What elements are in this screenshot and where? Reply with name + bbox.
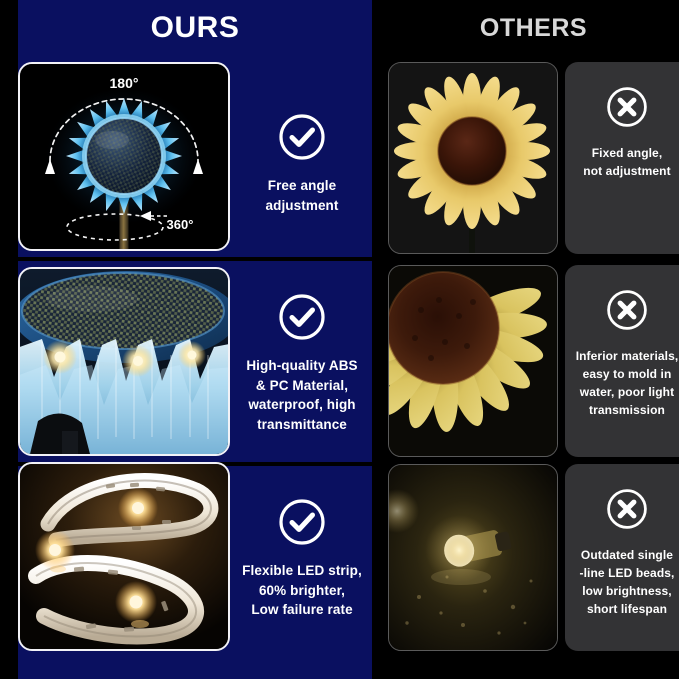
ours-feature-2: High-quality ABS& PC Material,waterproof… (232, 292, 372, 434)
check-circle-icon (277, 497, 327, 547)
others-header: OTHERS (388, 0, 679, 56)
check-circle-icon (277, 292, 327, 342)
ours-feature-3-label: Flexible LED strip,60% brighter,Low fail… (242, 561, 362, 620)
ours-image-card-led-strip (18, 462, 230, 651)
others-image-card-sunflower-closeup (388, 265, 558, 457)
cross-circle-icon (604, 486, 650, 532)
ours-feature-1: Free angleadjustment (232, 112, 372, 215)
cross-circle-icon (604, 84, 650, 130)
ours-feature-3: Flexible LED strip,60% brighter,Low fail… (232, 497, 372, 620)
others-drawback-1-label: Fixed angle,not adjustment (576, 144, 677, 180)
svg-text:360°: 360° (167, 217, 194, 232)
ours-feature-1-label: Free angleadjustment (265, 176, 338, 215)
solar-panel-crystal-petal-closeup (20, 269, 228, 454)
others-drawback-2: Inferior materials,easy to mold inwater,… (565, 265, 679, 457)
comparison-infographic: OURS OTHERS (0, 0, 679, 679)
ours-feature-2-label: High-quality ABS& PC Material,waterproof… (246, 356, 357, 434)
ours-header: OURS (18, 0, 372, 56)
cross-circle-icon (604, 287, 650, 333)
flexible-led-strip-coil (20, 464, 228, 649)
svg-text:180°: 180° (110, 75, 139, 91)
others-drawback-3: Outdated single-line LED beads,low brigh… (565, 464, 679, 651)
yellow-sunflower-on-black (389, 63, 557, 253)
others-drawback-3-label: Outdated single-line LED beads,low brigh… (573, 546, 679, 618)
check-circle-icon (277, 112, 327, 162)
others-image-card-dim-light (388, 464, 558, 651)
blue-sunflower-solar-light-angle-diagram: 180° (20, 64, 228, 249)
others-drawback-1: Fixed angle,not adjustment (565, 62, 679, 254)
dim-light-on-wet-ground (389, 465, 557, 650)
others-image-card-sunflower (388, 62, 558, 254)
ours-image-card-angle-diagram: 180° (18, 62, 230, 251)
sunflower-closeup-dark-center (389, 266, 557, 456)
ours-image-card-material (18, 267, 230, 456)
others-drawback-2-label: Inferior materials,easy to mold inwater,… (569, 347, 679, 419)
